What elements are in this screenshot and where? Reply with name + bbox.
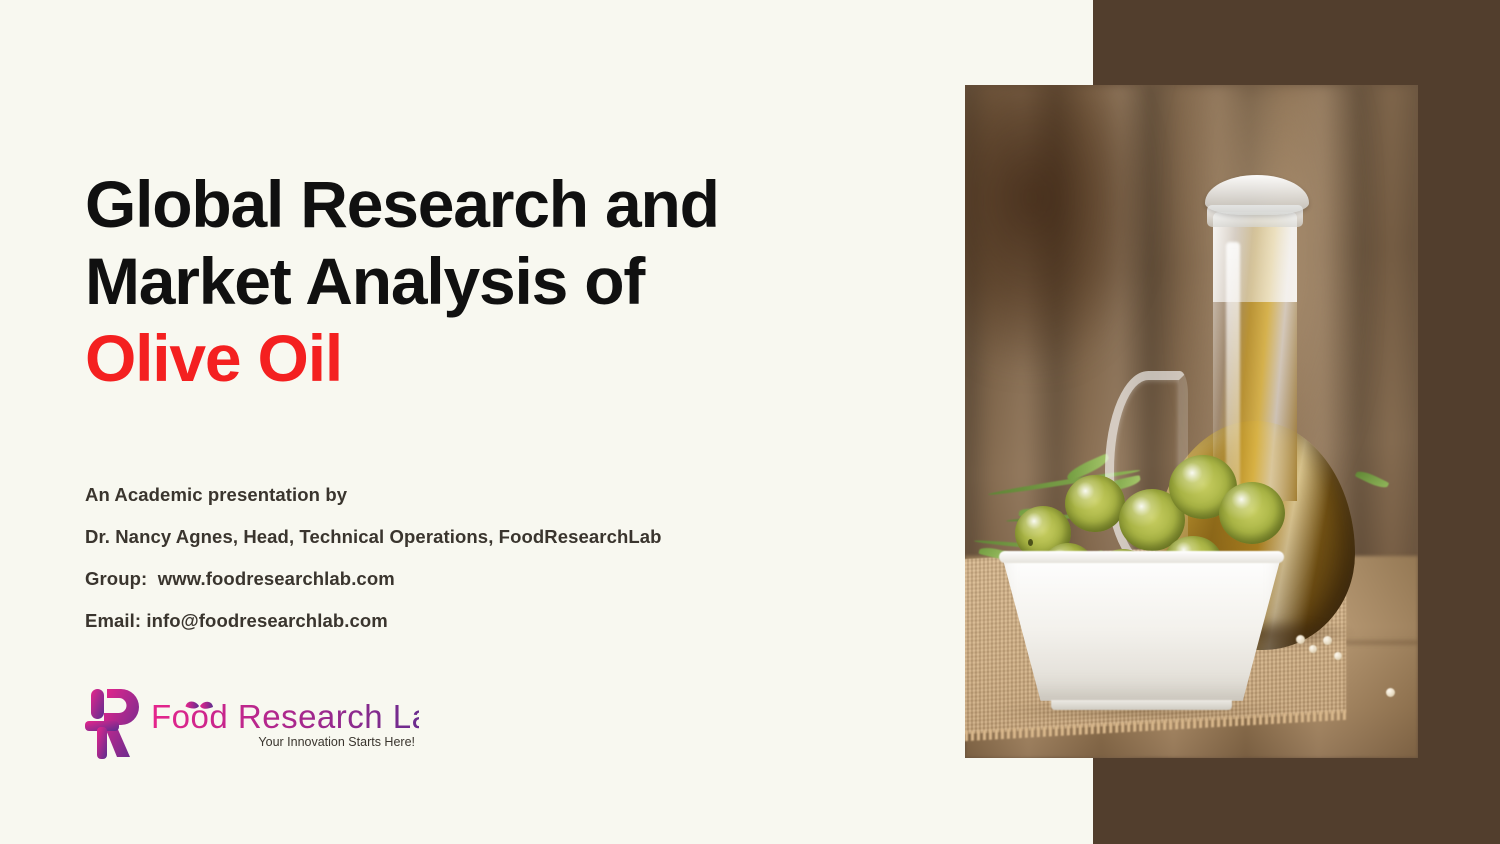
byline-website: Group: www.foodresearchlab.com bbox=[85, 558, 915, 600]
byline-email: Email: info@foodresearchlab.com bbox=[85, 600, 915, 642]
logo-wordmark: Food Research Lab bbox=[151, 697, 419, 737]
wood-knot-shadow bbox=[965, 85, 1146, 368]
slide-title: Global Research and Market Analysis of O… bbox=[85, 166, 915, 397]
bowl-rim bbox=[999, 551, 1284, 563]
title-line-1: Global Research and bbox=[85, 166, 915, 243]
logo-tagline: Your Innovation Starts Here! bbox=[151, 733, 419, 751]
olive-oil-photo bbox=[965, 85, 1418, 758]
svg-text:Food Research Lab: Food Research Lab bbox=[151, 698, 419, 735]
carafe-stopper bbox=[1205, 175, 1309, 215]
byline-intro: An Academic presentation by bbox=[85, 474, 915, 516]
title-line-3-accent: Olive Oil bbox=[85, 320, 915, 397]
green-olive bbox=[1219, 482, 1285, 544]
byline-presenter: Dr. Nancy Agnes, Head, Technical Operati… bbox=[85, 516, 915, 558]
green-olive bbox=[1065, 475, 1125, 532]
svg-text:Your Innovation Starts Here!: Your Innovation Starts Here! bbox=[258, 735, 415, 749]
title-line-2: Market Analysis of bbox=[85, 243, 915, 320]
logo-text-group: Food Research Lab Your Innovation Starts… bbox=[151, 697, 419, 751]
bowl-foot bbox=[1051, 700, 1232, 710]
presentation-slide: Global Research and Market Analysis of O… bbox=[0, 0, 1500, 844]
presenter-details: An Academic presentation by Dr. Nancy Ag… bbox=[85, 474, 915, 642]
white-bowl bbox=[1001, 553, 1282, 701]
food-research-lab-logo: Food Research Lab Your Innovation Starts… bbox=[85, 683, 415, 765]
peppercorn bbox=[1296, 635, 1305, 644]
food-research-lab-monogram-icon bbox=[85, 683, 147, 765]
peppercorn bbox=[1323, 636, 1332, 645]
